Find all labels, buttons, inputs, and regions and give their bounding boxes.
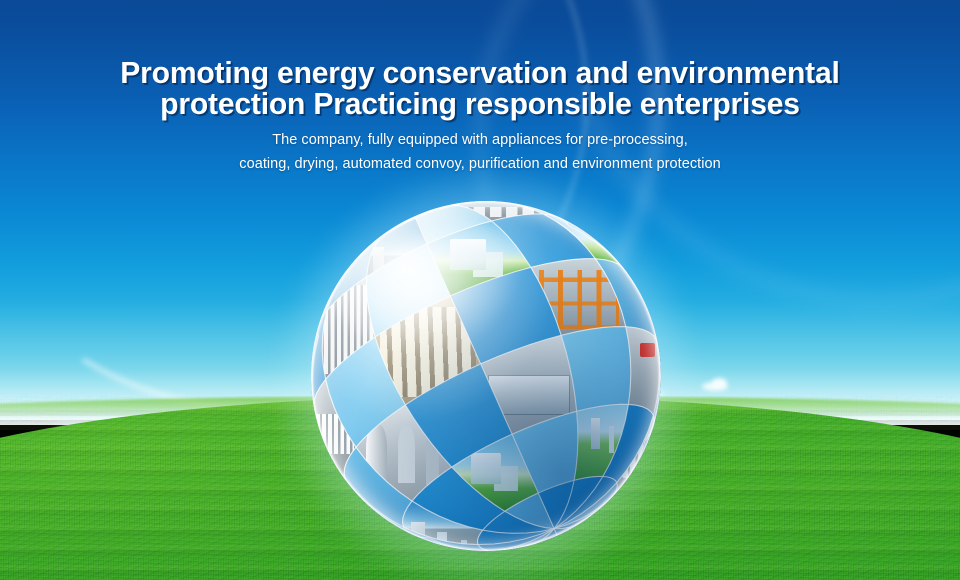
page-subtitle: The company, fully equipped with applian… (0, 128, 960, 176)
promo-banner: Promoting energy conservation and enviro… (0, 0, 960, 580)
globe-blue-tile (450, 267, 561, 364)
globe-blue-tile (603, 404, 654, 482)
title-line-2: protection Practicing responsible enterp… (14, 88, 945, 119)
globe-blue-tile (412, 467, 505, 530)
globe-blue-tile (561, 327, 631, 412)
photo-mosaic-globe (311, 201, 661, 551)
cloud-icon (712, 378, 727, 387)
globe-tile-grid (311, 201, 661, 551)
globe-blue-tile (326, 337, 406, 447)
subtitle-line-1: The company, fully equipped with applian… (0, 128, 960, 152)
globe-blue-tile (344, 447, 412, 527)
globe-blue-tile (312, 311, 327, 412)
globe-tile-svg (311, 201, 661, 551)
subtitle-line-2: coating, drying, automated convoy, purif… (0, 152, 960, 176)
globe-blue-tile (405, 364, 512, 467)
globe-blue-tile (367, 244, 451, 337)
page-title: Promoting energy conservation and enviro… (14, 57, 945, 119)
title-line-1: Promoting energy conservation and enviro… (14, 57, 945, 88)
globe-blue-tile (512, 411, 578, 493)
